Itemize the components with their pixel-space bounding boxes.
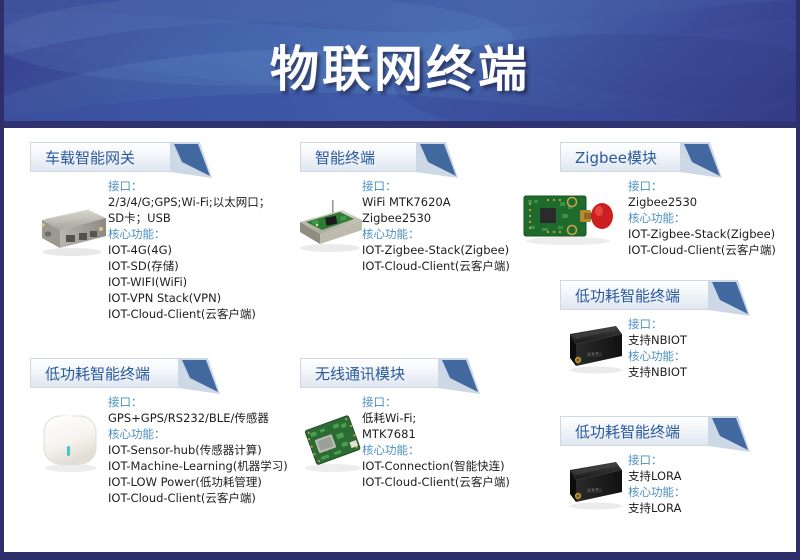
card-smart-terminal[interactable]: 智能终端 接口： WiFi MTK7620A Zigbee2530 核心功能： … (300, 142, 550, 172)
page-title: 物联网终端 (4, 30, 796, 101)
interface-line: 2/3/4/G;GPS;Wi-Fi;以太网口； (108, 194, 270, 210)
ribbon-arrow-icon (438, 358, 480, 396)
ribbon-box: 无线通讯模块 (300, 358, 440, 388)
ribbon-box: 车载智能网关 (30, 142, 172, 172)
ribbon-box: 低功耗智能终端 (560, 416, 710, 446)
core-heading: 核心功能： (628, 348, 687, 364)
card-body: 接口： GPS+GPS/RS232/BLE/传感器 核心功能： IOT-Sens… (108, 394, 288, 506)
core-line: IOT-WIFI(WiFi) (108, 274, 270, 290)
black-box-sma-icon (560, 456, 630, 512)
core-heading: 核心功能： (628, 210, 776, 226)
ribbon-box: 低功耗智能终端 (30, 358, 180, 388)
ribbon-arrow-icon (178, 358, 220, 396)
core-line: IOT-VPN Stack(VPN) (108, 290, 270, 306)
core-line: IOT-SD(存储) (108, 258, 270, 274)
card-ribbon: 智能终端 (300, 142, 550, 172)
green-wifi-module-icon (296, 408, 370, 474)
card-ribbon: 低功耗智能终端 (560, 280, 796, 310)
card-zigbee-module[interactable]: Zigbee模块 接口： Zigbee2530 核心功能： IOT-Zigbee… (560, 142, 796, 172)
white-dome-sensor-icon (34, 406, 108, 474)
card-body: 接口： 2/3/4/G;GPS;Wi-Fi;以太网口； SD卡；USB 核心功能… (108, 178, 270, 322)
interface-line: Zigbee2530 (628, 194, 776, 210)
core-heading: 核心功能： (108, 226, 270, 242)
interface-heading: 接口： (628, 178, 776, 194)
core-line: IOT-Cloud-Client(云客户端) (108, 306, 270, 322)
card-body: 接口： WiFi MTK7620A Zigbee2530 核心功能： IOT-Z… (362, 178, 510, 274)
ribbon-box: 低功耗智能终端 (560, 280, 710, 310)
core-line: 支持LORA (628, 500, 686, 516)
core-heading: 核心功能： (362, 442, 510, 458)
core-line: IOT-LOW Power(低功耗管理) (108, 474, 288, 490)
core-line: IOT-Connection(智能快连) (362, 458, 510, 474)
metal-gateway-box-icon (32, 204, 108, 258)
card-title: 车载智能网关 (45, 147, 135, 168)
core-heading: 核心功能： (108, 426, 288, 442)
interface-heading: 接口： (362, 394, 510, 410)
interface-heading: 接口： (362, 178, 510, 194)
core-heading: 核心功能： (628, 484, 686, 500)
card-ribbon: 低功耗智能终端 (560, 416, 796, 446)
card-title: 智能终端 (315, 147, 375, 168)
core-line: IOT-Cloud-Client(云客户端) (108, 490, 288, 506)
card-title: 无线通讯模块 (315, 363, 405, 384)
card-title: Zigbee模块 (575, 147, 657, 168)
ribbon-box: 智能终端 (300, 142, 418, 172)
ribbon-arrow-icon (416, 142, 458, 180)
ribbon-arrow-icon (680, 142, 722, 180)
page-header: 物联网终端 (4, 0, 796, 128)
interface-line: GPS+GPS/RS232/BLE/传感器 (108, 410, 288, 426)
interface-line: Zigbee2530 (362, 210, 510, 226)
card-title: 低功耗智能终端 (575, 285, 680, 306)
card-low-power-sensor[interactable]: 低功耗智能终端 接口： GPS+GPS/RS232/BLE/传感器 核心功能： … (30, 358, 300, 388)
card-body: 接口： 支持NBIOT 核心功能： 支持NBIOT (628, 316, 687, 380)
interface-heading: 接口： (628, 452, 686, 468)
card-low-power-nbiot[interactable]: 低功耗智能终端 接口： 支持NBIOT 核心功能： 支持NBIOT (560, 280, 796, 310)
card-ribbon: 车载智能网关 (30, 142, 300, 172)
card-vehicle-gateway[interactable]: 车载智能网关 接口： 2/3/4/G;GPS;Wi-Fi;以太网口； SD卡；U… (30, 142, 300, 172)
header-bottom-rule (4, 121, 796, 128)
card-ribbon: 无线通讯模块 (300, 358, 550, 388)
card-ribbon: Zigbee模块 (560, 142, 796, 172)
green-pcb-red-antenna-icon (518, 188, 624, 246)
card-body: 接口： Zigbee2530 核心功能： IOT-Zigbee-Stack(Zi… (628, 178, 776, 258)
black-box-sma-icon (560, 320, 630, 376)
ribbon-arrow-icon (170, 142, 212, 180)
core-line: IOT-Cloud-Client(云客户端) (628, 242, 776, 258)
interface-line: 支持LORA (628, 468, 686, 484)
card-title: 低功耗智能终端 (575, 421, 680, 442)
interface-line: WiFi MTK7620A (362, 194, 510, 210)
card-ribbon: 低功耗智能终端 (30, 358, 300, 388)
interface-line: SD卡；USB (108, 210, 270, 226)
interface-heading: 接口： (108, 178, 270, 194)
core-line: IOT-4G(4G) (108, 242, 270, 258)
card-low-power-lora[interactable]: 低功耗智能终端 接口： 支持LORA 核心功能： 支持LORA (560, 416, 796, 446)
core-line: IOT-Machine-Learning(机器学习) (108, 458, 288, 474)
interface-line: 支持NBIOT (628, 332, 687, 348)
card-wireless-module[interactable]: 无线通讯模块 接口： 低耗Wi-Fi; MTK7681 核心功能： IOT-Co… (300, 358, 550, 388)
core-line: IOT-Cloud-Client(云客户端) (362, 474, 510, 490)
pcb-enclosure-antenna-icon (292, 194, 368, 256)
core-heading: 核心功能： (362, 226, 510, 242)
core-line: IOT-Sensor-hub(传感器计算) (108, 442, 288, 458)
interface-line: 低耗Wi-Fi; (362, 410, 510, 426)
card-body: 接口： 低耗Wi-Fi; MTK7681 核心功能： IOT-Connectio… (362, 394, 510, 490)
cards-board: 车载智能网关 接口： 2/3/4/G;GPS;Wi-Fi;以太网口； SD卡；U… (4, 128, 796, 546)
ribbon-arrow-icon (708, 280, 750, 318)
core-line: IOT-Cloud-Client(云客户端) (362, 258, 510, 274)
core-line: IOT-Zigbee-Stack(Zigbee) (362, 242, 510, 258)
core-line: 支持NBIOT (628, 364, 687, 380)
card-title: 低功耗智能终端 (45, 363, 150, 384)
core-line: IOT-Zigbee-Stack(Zigbee) (628, 226, 776, 242)
interface-line: MTK7681 (362, 426, 510, 442)
interface-heading: 接口： (628, 316, 687, 332)
ribbon-box: Zigbee模块 (560, 142, 682, 172)
poster-page: 物联网终端 车载智能网关 接口： 2/3/4/G;GPS;Wi-Fi;以太网口；… (4, 0, 796, 552)
card-body: 接口： 支持LORA 核心功能： 支持LORA (628, 452, 686, 516)
interface-heading: 接口： (108, 394, 288, 410)
ribbon-arrow-icon (708, 416, 750, 454)
